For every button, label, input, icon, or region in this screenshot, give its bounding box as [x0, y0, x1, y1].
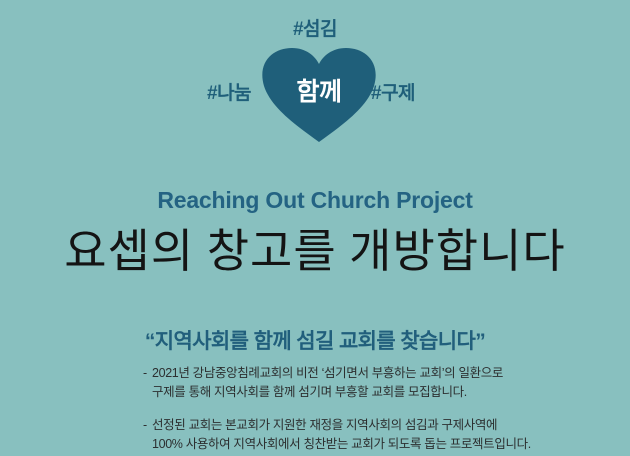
quote-line: “지역사회를 함께 섬길 교회를 찾습니다” [0, 329, 630, 354]
note-line: 100% 사용하여 지역사회에서 칭찬받는 교회가 되도록 돕는 프로젝트입니다… [152, 435, 531, 454]
hero-section: #섬김 #나눔 #구제 함께 [0, 0, 630, 160]
hashtag-right: #구제 [371, 84, 415, 103]
note-body: 2021년 강남중앙침례교회의 비전 ‘섬기면서 부흥하는 교회’의 일환으로 … [152, 364, 523, 403]
hashtag-left: #나눔 [207, 84, 251, 103]
note-body: 선정된 교회는 본교회가 지원한 재정을 지역사회의 섬김과 구제사역에 100… [152, 416, 531, 455]
poster-root: #섬김 #나눔 #구제 함께 Reaching Out Church Proje… [0, 0, 630, 456]
project-subtitle: Reaching Out Church Project [0, 188, 630, 213]
notes-list: - 2021년 강남중앙침례교회의 비전 ‘섬기면서 부흥하는 교회’의 일환으… [143, 364, 523, 455]
page-title: 요셉의 창고를 개방합니다 [0, 226, 630, 279]
heart-badge: 함께 [261, 48, 377, 142]
note-marker: - [143, 364, 152, 383]
note-line: 선정된 교회는 본교회가 지원한 재정을 지역사회의 섬김과 구제사역에 [152, 416, 531, 435]
note-item: - 선정된 교회는 본교회가 지원한 재정을 지역사회의 섬김과 구제사역에 1… [143, 416, 523, 455]
note-line: 2021년 강남중앙침례교회의 비전 ‘섬기면서 부흥하는 교회’의 일환으로 [152, 364, 523, 383]
note-line: 구제를 통해 지역사회를 함께 섬기며 부흥할 교회를 모집합니다. [152, 383, 523, 402]
heart-label: 함께 [261, 48, 377, 142]
hashtag-top: #섬김 [0, 20, 630, 39]
note-marker: - [143, 416, 152, 435]
note-item: - 2021년 강남중앙침례교회의 비전 ‘섬기면서 부흥하는 교회’의 일환으… [143, 364, 523, 403]
